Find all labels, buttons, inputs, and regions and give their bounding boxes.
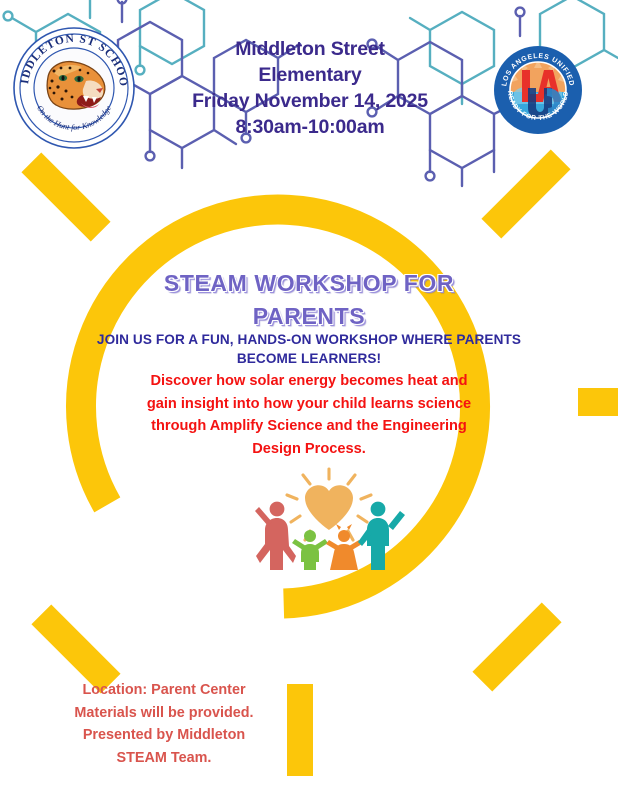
footer-presenter-1: Presented by Middleton — [36, 724, 292, 747]
title-line-1: STEAM WORKSHOP FOR — [104, 267, 514, 300]
flyer-page: MIDDLETON ST SCHOOL On the Hunt for Know… — [0, 0, 618, 800]
heart-shape — [305, 485, 353, 530]
footer-details: Location: Parent Center Materials will b… — [36, 679, 292, 769]
lausd-seal-logo: LOS ANGELES UNIFIED READY FOR THE WORLD — [492, 44, 584, 136]
figure-father — [358, 502, 405, 570]
body-line-4: Design Process. — [104, 438, 514, 461]
school-type-line: Elementary — [150, 62, 470, 88]
title-line-2: PARENTS — [104, 300, 514, 333]
page-subtitle: JOIN US FOR A FUN, HANDS-ON WORKSHOP WHE… — [74, 330, 544, 368]
school-name-line: Middleton Street — [150, 36, 470, 62]
body-line-1: Discover how solar energy becomes heat a… — [104, 370, 514, 393]
event-header: Middleton Street Elementary Friday Novem… — [150, 36, 470, 140]
figure-mother — [255, 502, 296, 570]
subtitle-line-1: JOIN US FOR A FUN, HANDS-ON WORKSHOP WHE… — [74, 330, 544, 349]
footer-location: Location: Parent Center — [36, 679, 292, 702]
event-date-line: Friday November 14, 2025 — [150, 88, 470, 114]
body-paragraph: Discover how solar energy becomes heat a… — [104, 370, 514, 460]
school-seal-logo: MIDDLETON ST SCHOOL On the Hunt for Know… — [12, 26, 136, 150]
footer-materials: Materials will be provided. — [36, 702, 292, 725]
body-line-3: through Amplify Science and the Engineer… — [104, 415, 514, 438]
figure-boy — [292, 530, 328, 570]
page-title: STEAM WORKSHOP FOR PARENTS — [104, 267, 514, 333]
body-line-2: gain insight into how your child learns … — [104, 393, 514, 416]
subtitle-line-2: BECOME LEARNERS! — [74, 349, 544, 368]
figure-girl — [326, 524, 362, 570]
footer-presenter-2: STEAM Team. — [36, 747, 292, 770]
event-time-line: 8:30am-10:00am — [150, 114, 470, 140]
